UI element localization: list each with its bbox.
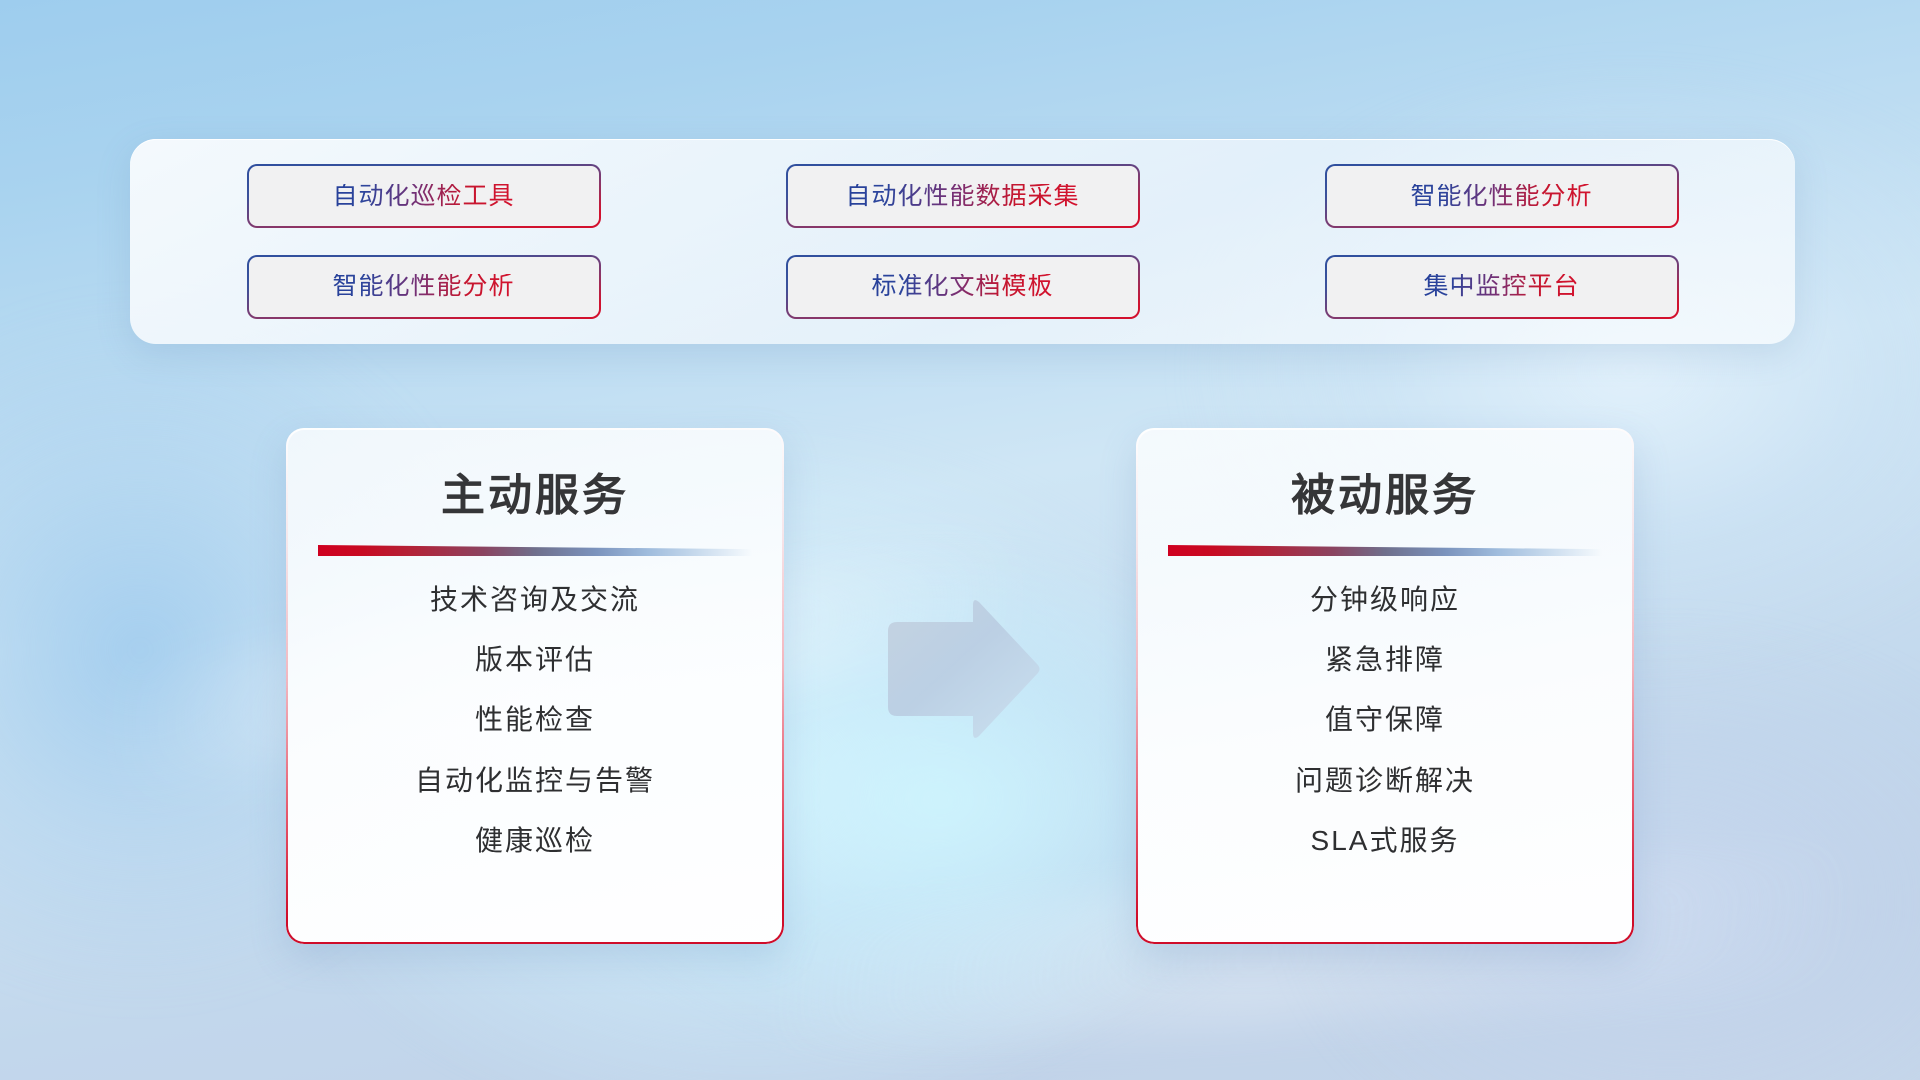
capability-tag-2[interactable]: 智能化性能分析 [1325, 164, 1679, 228]
service-card-reactive: 被动服务 分钟级响应 紧急排障 值守保障 问题诊断解决 SLA式服务 [1136, 428, 1634, 944]
list-item: SLA式服务 [1166, 825, 1604, 857]
list-item: 版本评估 [316, 644, 754, 676]
capability-tag-label: 标准化文档模板 [871, 274, 1053, 299]
card-divider [318, 545, 752, 556]
list-item: 问题诊断解决 [1166, 765, 1604, 797]
capability-tag-label: 智能化性能分析 [1410, 184, 1592, 209]
capability-tag-label: 集中监控平台 [1423, 274, 1579, 299]
list-item: 紧急排障 [1166, 644, 1604, 676]
list-item: 性能检查 [316, 704, 754, 736]
capability-tag-label: 自动化巡检工具 [332, 184, 514, 209]
capability-tag-0[interactable]: 自动化巡检工具 [247, 164, 601, 228]
list-item: 自动化监控与告警 [316, 765, 754, 797]
card-title: 主动服务 [316, 468, 754, 523]
list-item: 健康巡检 [316, 825, 754, 857]
card-divider [1168, 545, 1602, 556]
capability-tag-5[interactable]: 集中监控平台 [1325, 255, 1679, 319]
service-item-list: 技术咨询及交流 版本评估 性能检查 自动化监控与告警 健康巡检 [316, 584, 754, 857]
capability-tag-1[interactable]: 自动化性能数据采集 [786, 164, 1140, 228]
capability-tag-label: 自动化性能数据采集 [845, 184, 1079, 209]
list-item: 技术咨询及交流 [316, 584, 754, 616]
slide-canvas: 自动化巡检工具 自动化性能数据采集 智能化性能分析 智能化性能分析 标准化文档模… [0, 0, 1920, 1080]
capability-tag-3[interactable]: 智能化性能分析 [247, 255, 601, 319]
capability-tag-panel: 自动化巡检工具 自动化性能数据采集 智能化性能分析 智能化性能分析 标准化文档模… [130, 139, 1795, 344]
service-item-list: 分钟级响应 紧急排障 值守保障 问题诊断解决 SLA式服务 [1166, 584, 1604, 857]
service-card-proactive: 主动服务 技术咨询及交流 版本评估 性能检查 自动化监控与告警 健康巡检 [286, 428, 784, 944]
list-item: 分钟级响应 [1166, 584, 1604, 616]
arrow-right-icon [882, 600, 1042, 748]
capability-tag-label: 智能化性能分析 [332, 274, 514, 299]
list-item: 值守保障 [1166, 704, 1604, 736]
card-title: 被动服务 [1166, 468, 1604, 523]
capability-tag-4[interactable]: 标准化文档模板 [786, 255, 1140, 319]
